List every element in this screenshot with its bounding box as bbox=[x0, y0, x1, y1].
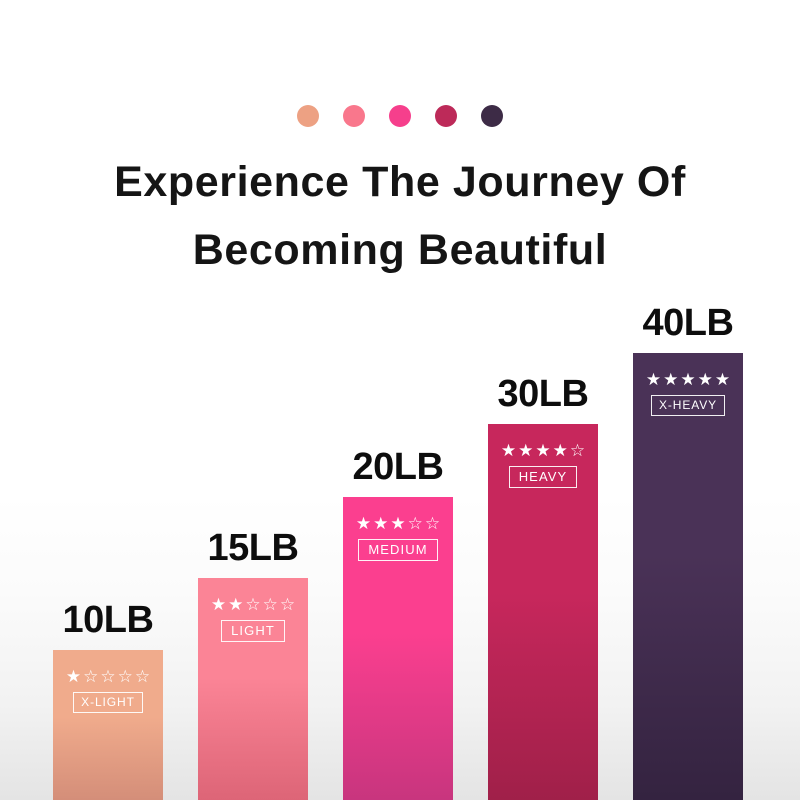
star-empty-icon: ☆ bbox=[425, 515, 440, 532]
bar-value-label-30lb: 30LB bbox=[498, 373, 589, 416]
star-filled-icon: ★ bbox=[646, 371, 661, 388]
star-filled-icon: ★ bbox=[663, 371, 678, 388]
star-empty-icon: ☆ bbox=[118, 668, 133, 685]
bar-column-40lb[interactable]: 40LB★★★★★X-HEAVY bbox=[633, 273, 743, 800]
star-empty-icon: ☆ bbox=[570, 442, 585, 459]
bar-badge-40lb: ★★★★★X-HEAVY bbox=[633, 371, 743, 416]
bar-badge-10lb: ★☆☆☆☆X-LIGHT bbox=[53, 668, 163, 713]
bar-value-label-20lb: 20LB bbox=[353, 446, 444, 489]
star-empty-icon: ☆ bbox=[135, 668, 150, 685]
star-filled-icon: ★ bbox=[228, 596, 243, 613]
resistance-band-bar-chart: 10LB★☆☆☆☆X-LIGHT15LB★★☆☆☆LIGHT20LB★★★☆☆M… bbox=[0, 0, 800, 800]
bar-column-30lb[interactable]: 30LB★★★★☆HEAVY bbox=[488, 344, 598, 800]
star-empty-icon: ☆ bbox=[245, 596, 260, 613]
star-rating-30lb: ★★★★☆ bbox=[501, 442, 585, 459]
bar-value-label-10lb: 10LB bbox=[63, 599, 154, 642]
bar-column-10lb[interactable]: 10LB★☆☆☆☆X-LIGHT bbox=[53, 570, 163, 800]
star-filled-icon: ★ bbox=[66, 668, 81, 685]
bar-40lb[interactable]: ★★★★★X-HEAVY bbox=[633, 353, 743, 800]
bar-value-label-15lb: 15LB bbox=[208, 527, 299, 570]
resistance-tag-15lb: LIGHT bbox=[221, 620, 285, 642]
star-rating-40lb: ★★★★★ bbox=[646, 371, 730, 388]
star-empty-icon: ☆ bbox=[263, 596, 278, 613]
star-filled-icon: ★ bbox=[715, 371, 730, 388]
star-filled-icon: ★ bbox=[680, 371, 695, 388]
star-rating-20lb: ★★★☆☆ bbox=[356, 515, 440, 532]
bar-20lb[interactable]: ★★★☆☆MEDIUM bbox=[343, 497, 453, 800]
bar-badge-20lb: ★★★☆☆MEDIUM bbox=[343, 515, 453, 561]
bar-value-label-40lb: 40LB bbox=[643, 302, 734, 345]
star-empty-icon: ☆ bbox=[408, 515, 423, 532]
resistance-tag-10lb: X-LIGHT bbox=[73, 692, 143, 713]
bar-column-15lb[interactable]: 15LB★★☆☆☆LIGHT bbox=[198, 498, 308, 800]
star-rating-15lb: ★★☆☆☆ bbox=[211, 596, 295, 613]
star-empty-icon: ☆ bbox=[83, 668, 98, 685]
star-filled-icon: ★ bbox=[553, 442, 568, 459]
star-filled-icon: ★ bbox=[211, 596, 226, 613]
star-filled-icon: ★ bbox=[535, 442, 550, 459]
bar-column-20lb[interactable]: 20LB★★★☆☆MEDIUM bbox=[343, 417, 453, 800]
resistance-tag-40lb: X-HEAVY bbox=[651, 395, 725, 416]
star-filled-icon: ★ bbox=[373, 515, 388, 532]
product-infographic: Experience The Journey Of Becoming Beaut… bbox=[0, 0, 800, 800]
star-filled-icon: ★ bbox=[501, 442, 516, 459]
bar-badge-15lb: ★★☆☆☆LIGHT bbox=[198, 596, 308, 642]
bar-10lb[interactable]: ★☆☆☆☆X-LIGHT bbox=[53, 650, 163, 800]
star-empty-icon: ☆ bbox=[100, 668, 115, 685]
star-filled-icon: ★ bbox=[356, 515, 371, 532]
bar-badge-30lb: ★★★★☆HEAVY bbox=[488, 442, 598, 488]
bar-15lb[interactable]: ★★☆☆☆LIGHT bbox=[198, 578, 308, 800]
star-filled-icon: ★ bbox=[390, 515, 405, 532]
star-rating-10lb: ★☆☆☆☆ bbox=[66, 668, 150, 685]
resistance-tag-30lb: HEAVY bbox=[509, 466, 578, 488]
star-filled-icon: ★ bbox=[518, 442, 533, 459]
star-empty-icon: ☆ bbox=[280, 596, 295, 613]
bar-30lb[interactable]: ★★★★☆HEAVY bbox=[488, 424, 598, 800]
star-filled-icon: ★ bbox=[698, 371, 713, 388]
resistance-tag-20lb: MEDIUM bbox=[358, 539, 437, 561]
